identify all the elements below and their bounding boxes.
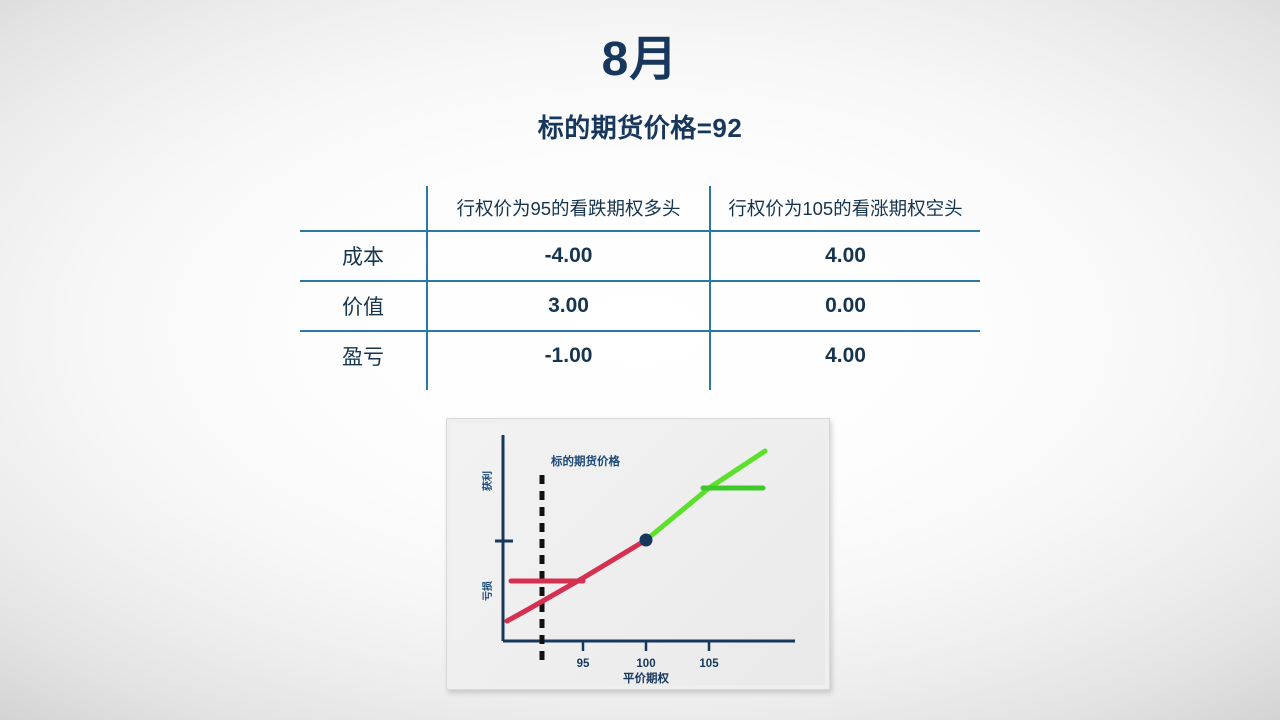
x-axis-caption: 平价期权 — [623, 671, 669, 685]
spacer-cell — [300, 380, 427, 390]
cell-pnl-put-long: -1.00 — [427, 331, 710, 380]
cell-cost-call-short: 4.00 — [710, 231, 980, 281]
cell-value-put-long: 3.00 — [427, 281, 710, 331]
table-spacer-row — [300, 380, 980, 390]
x-tick-label-95: 95 — [577, 658, 590, 670]
spacer-cell — [710, 380, 980, 390]
slide-canvas: 8月 标的期货价格=92 行权价为95的看跌期权多头 行权价为105的看涨期权空… — [0, 0, 1280, 720]
cell-cost-put-long: -4.00 — [427, 231, 710, 281]
underlying-price-annotation: 标的期货价格 — [550, 454, 620, 468]
series-line-call-short — [646, 451, 765, 540]
spacer-cell — [427, 380, 710, 390]
x-tick-label-100: 100 — [636, 658, 655, 670]
payoff-chart-plot-area: 标的期货价格 获利 亏损 95 100 105 平价期权 — [451, 423, 825, 685]
results-table: 行权价为95的看跌期权多头 行权价为105的看涨期权空头 成本 -4.00 4.… — [300, 186, 980, 390]
table-row: 价值 3.00 0.00 — [300, 281, 980, 331]
y-axis-label-loss: 亏损 — [481, 581, 494, 601]
cell-value-call-short: 0.00 — [710, 281, 980, 331]
table-header-row: 行权价为95的看跌期权多头 行权价为105的看涨期权空头 — [300, 186, 980, 231]
row-label-cost: 成本 — [300, 231, 427, 281]
column-header-call-short: 行权价为105的看涨期权空头 — [710, 186, 980, 231]
payoff-chart-image: 标的期货价格 获利 亏损 95 100 105 平价期权 — [446, 418, 830, 690]
row-label-value: 价值 — [300, 281, 427, 331]
payoff-chart-svg: 标的期货价格 获利 亏损 95 100 105 平价期权 — [451, 423, 825, 685]
x-tick-label-105: 105 — [699, 658, 719, 670]
table-corner-cell — [300, 186, 427, 231]
page-subtitle: 标的期货价格=92 — [0, 108, 1280, 145]
row-label-pnl: 盈亏 — [300, 331, 427, 380]
breakeven-marker-dot — [640, 534, 653, 547]
y-axis-label-profit: 获利 — [481, 471, 494, 492]
table-row: 成本 -4.00 4.00 — [300, 231, 980, 281]
column-header-put-long: 行权价为95的看跌期权多头 — [427, 186, 710, 231]
cell-pnl-call-short: 4.00 — [710, 331, 980, 380]
results-table-container: 行权价为95的看跌期权多头 行权价为105的看涨期权空头 成本 -4.00 4.… — [300, 186, 980, 390]
page-title: 8月 — [0, 34, 1280, 87]
table-row: 盈亏 -1.00 4.00 — [300, 331, 980, 380]
